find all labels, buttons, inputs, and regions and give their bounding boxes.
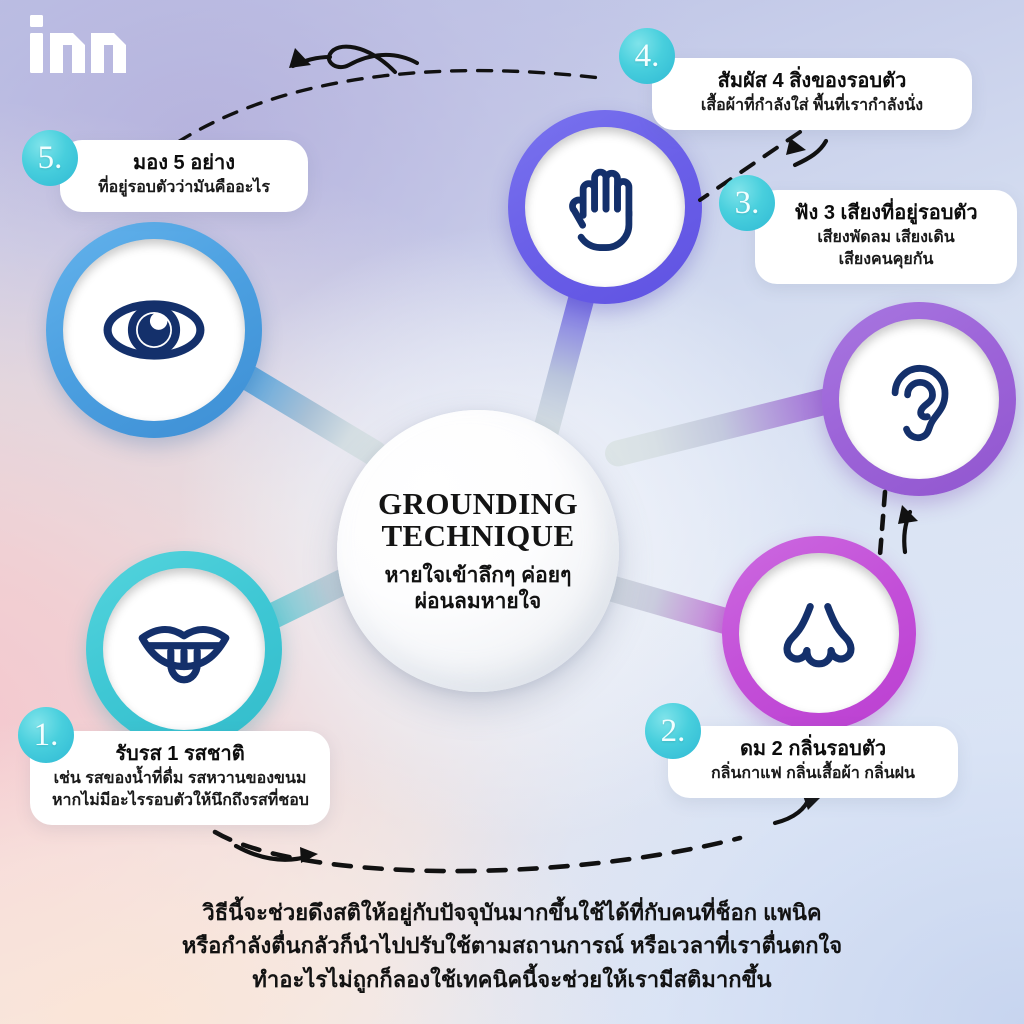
step-4-badge: 4. (619, 28, 675, 84)
step-5-badge: 5. (22, 130, 78, 186)
step-card-1[interactable]: รับรส 1 รสชาติ เช่น รสของน้ำที่ดื่ม รสหว… (30, 731, 330, 825)
hand-ring (508, 110, 702, 304)
hub-subtitle: หายใจเข้าลึกๆ ค่อยๆ ผ่อนลมหายใจ (385, 563, 572, 614)
hub-subtitle-line2: ผ่อนลมหายใจ (385, 589, 572, 615)
hand-icon (553, 155, 657, 259)
node-ear[interactable] (822, 302, 1016, 496)
step-5-body-line1: ที่อยู่รอบตัวว่ามันคืออะไร (82, 177, 286, 199)
step-card-5[interactable]: มอง 5 อย่าง ที่อยู่รอบตัวว่ามันคืออะไร (60, 140, 308, 212)
step-1-heading: รับรส 1 รสชาติ (52, 742, 308, 768)
eye-icon (96, 272, 212, 388)
step-card-3[interactable]: ฟัง 3 เสียงที่อยู่รอบตัว เสียงพัดลม เสีย… (755, 190, 1017, 284)
step-3-body-line2: เสียงคนคุยกัน (777, 249, 995, 271)
hub-title-line2: TECHNIQUE (378, 520, 578, 553)
hub-title: GROUNDING TECHNIQUE (378, 488, 578, 554)
hub-subtitle-line1: หายใจเข้าลึกๆ ค่อยๆ (385, 563, 572, 589)
step-3-heading: ฟัง 3 เสียงที่อยู่รอบตัว (777, 201, 995, 227)
nose-icon (764, 578, 874, 688)
node-nose[interactable] (722, 536, 916, 730)
node-tongue[interactable] (86, 551, 282, 747)
eye-ring (46, 222, 262, 438)
step-4-heading: สัมผัส 4 สิ่งของรอบตัว (674, 69, 950, 95)
step-2-heading: ดม 2 กลิ่นรอบตัว (690, 737, 936, 763)
step-2-body-line1: กลิ่นกาแฟ กลิ่นเสื้อผ้า กลิ่นฝน (690, 763, 936, 785)
inn-logo (28, 14, 148, 74)
step-5-heading: มอง 5 อย่าง (82, 151, 286, 177)
step-card-4[interactable]: สัมผัส 4 สิ่งของรอบตัว เสื้อผ้าที่กำลังใ… (652, 58, 972, 130)
center-hub: GROUNDING TECHNIQUE หายใจเข้าลึกๆ ค่อยๆ … (337, 410, 619, 692)
footer-line-3: ทำอะไรไม่ถูกก็ลองใช้เทคนิคนี้จะช่วยให้เร… (0, 963, 1024, 996)
ear-icon (867, 347, 971, 451)
step-1-badge: 1. (18, 707, 74, 763)
step-card-2[interactable]: ดม 2 กลิ่นรอบตัว กลิ่นกาแฟ กลิ่นเสื้อผ้า… (668, 726, 958, 798)
tongue-ring (86, 551, 282, 747)
ear-ring (822, 302, 1016, 496)
footer-text: วิธีนี้จะช่วยดึงสติให้อยู่กับปัจจุบันมาก… (0, 896, 1024, 996)
step-1-body-line2: หากไม่มีอะไรรอบตัวให้นึกถึงรสที่ชอบ (52, 790, 308, 812)
footer-line-1: วิธีนี้จะช่วยดึงสติให้อยู่กับปัจจุบันมาก… (0, 896, 1024, 929)
step-2-badge: 2. (645, 703, 701, 759)
node-hand[interactable] (508, 110, 702, 304)
footer-line-2: หรือกำลังตื่นกลัวก็นำไปปรับใช้ตามสถานการ… (0, 929, 1024, 962)
node-eye[interactable] (46, 222, 262, 438)
step-3-badge: 3. (719, 175, 775, 231)
nose-ring (722, 536, 916, 730)
step-1-body-line1: เช่น รสของน้ำที่ดื่ม รสหวานของขนม (52, 768, 308, 790)
step-3-body-line1: เสียงพัดลม เสียงเดิน (777, 227, 995, 249)
step-4-body-line1: เสื้อผ้าที่กำลังใส่ พื้นที่เรากำลังนั่ง (674, 95, 950, 117)
tongue-icon (129, 594, 239, 704)
hub-title-line1: GROUNDING (378, 488, 578, 521)
